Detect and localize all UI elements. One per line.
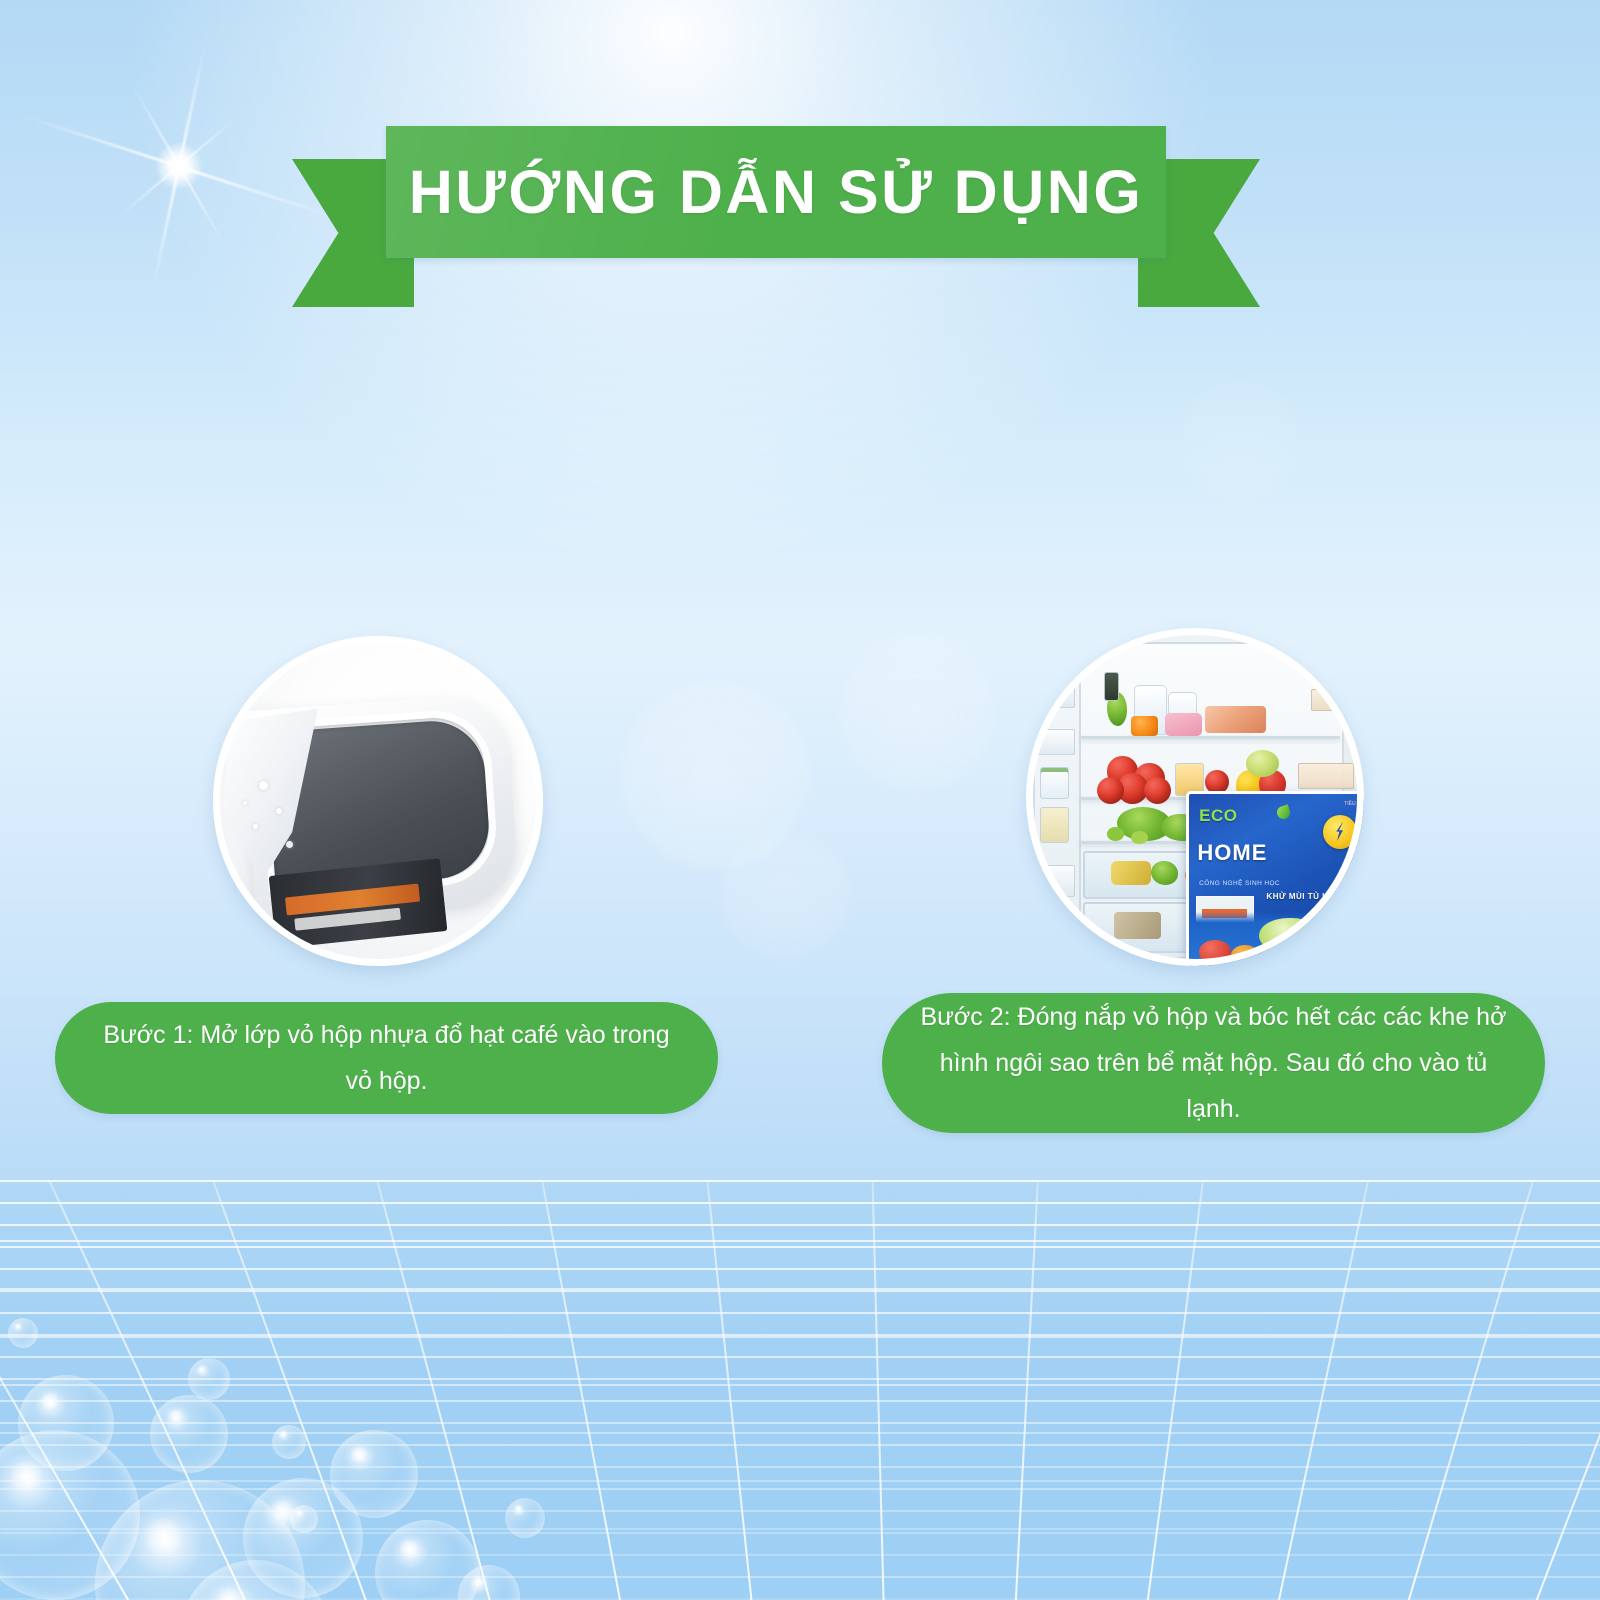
- bokeh-circle: [720, 830, 850, 960]
- pack-vegetable-art: [1189, 912, 1364, 966]
- bubble-icon: [330, 1430, 418, 1518]
- leaf-icon: [1275, 805, 1291, 821]
- bubble-icon: [8, 1318, 38, 1348]
- bubble-icon: [272, 1425, 306, 1459]
- sparkle-star-icon: [178, 165, 180, 167]
- pack-badge-icon: [1323, 815, 1357, 849]
- bokeh-circle: [620, 680, 810, 870]
- pack-brand-main: HOME: [1197, 840, 1267, 866]
- fridge-interior-scene: ECO HOME CÔNG NGHỆ SINH HỌC TIÊU KHỬ MÙI…: [1026, 628, 1364, 966]
- bokeh-circle: [840, 635, 995, 790]
- title-ribbon: HƯỚNG DẪN SỬ DỤNG: [292, 126, 1260, 298]
- bubble-icon: [0, 1430, 140, 1600]
- step-2-photo: ECO HOME CÔNG NGHỆ SINH HỌC TIÊU KHỬ MÙI…: [1026, 628, 1364, 966]
- product-package: ECO HOME CÔNG NGHỆ SINH HỌC TIÊU KHỬ MÙI…: [1186, 791, 1364, 966]
- step-2-caption-text: Bước 2: Đóng nắp vỏ hộp và bóc hết các c…: [882, 994, 1545, 1133]
- step-1-caption-text: Bước 1: Mở lớp vỏ hộp nhựa đổ hạt café v…: [55, 1012, 718, 1105]
- bubble-icon: [375, 1520, 480, 1600]
- bubble-icon: [188, 1358, 230, 1400]
- bubble-icon: [18, 1375, 114, 1471]
- step-1-photo: [213, 636, 543, 966]
- grid-vertical-lines: [0, 1180, 1600, 1600]
- pack-brand-top: ECO: [1199, 806, 1237, 826]
- poster-canvas: HƯỚNG DẪN SỬ DỤNG Bước 1: Mở lớp vỏ hộp …: [0, 0, 1600, 1600]
- bubble-icon: [180, 1560, 330, 1600]
- pack-brand-sub: CÔNG NGHỆ SINH HỌC: [1199, 880, 1280, 887]
- page-title: HƯỚNG DẪN SỬ DỤNG: [292, 126, 1260, 258]
- coffee-pouch-scene: [213, 636, 543, 966]
- bubble-icon: [458, 1565, 520, 1600]
- bubble-icon: [150, 1395, 228, 1473]
- bubble-icon: [95, 1480, 305, 1600]
- step-2-caption-pill: Bước 2: Đóng nắp vỏ hộp và bóc hết các c…: [882, 993, 1545, 1133]
- bubble-icon: [243, 1478, 363, 1598]
- pack-tagline: KHỬ MÙI TỦ LẠNH: [1255, 892, 1357, 901]
- pack-corner-mark: TIÊU: [1344, 801, 1355, 807]
- bubble-icon: [505, 1498, 545, 1538]
- step-1-caption-pill: Bước 1: Mở lớp vỏ hộp nhựa đổ hạt café v…: [55, 1002, 718, 1114]
- bokeh-circle: [1180, 380, 1300, 500]
- perspective-grid-floor: [0, 1180, 1600, 1600]
- bubble-icon: [290, 1505, 318, 1533]
